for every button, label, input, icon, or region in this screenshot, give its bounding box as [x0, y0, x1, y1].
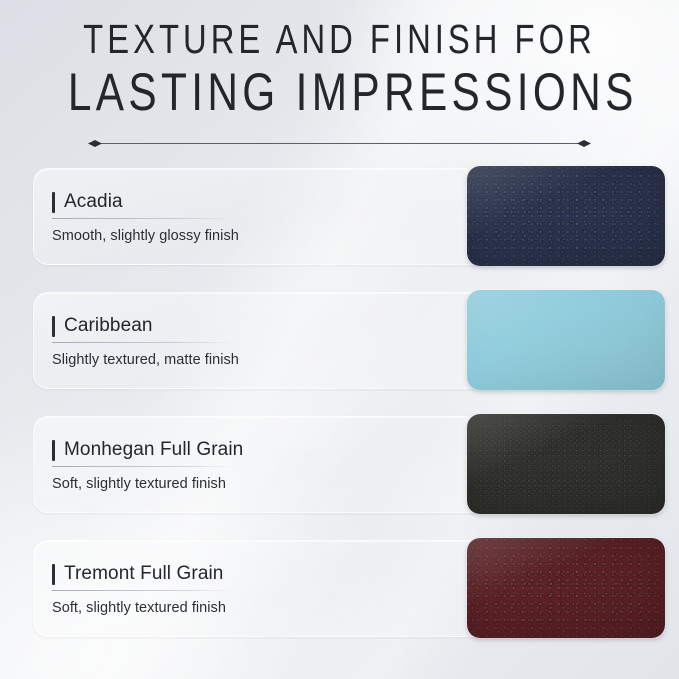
swatch-description: Soft, slightly textured finish	[52, 600, 452, 616]
name-row: Caribbean	[52, 313, 452, 339]
title-line-2: LASTING IMPRESSIONS	[68, 65, 611, 120]
name-row: Tremont Full Grain	[52, 561, 452, 587]
color-swatch-acadia[interactable]	[467, 166, 665, 266]
swatch-shading	[467, 414, 665, 514]
color-swatch-monhegan-full-grain[interactable]	[467, 414, 665, 514]
swatch-shading	[467, 538, 665, 638]
divider-icon	[88, 138, 591, 149]
header-divider-ornament	[88, 136, 591, 147]
texture-finish-poster: TEXTURE AND FINISH FOR LASTING IMPRESSIO…	[0, 0, 679, 679]
swatch-description: Soft, slightly textured finish	[52, 476, 452, 492]
name-underline	[52, 342, 228, 343]
name-underline	[52, 466, 228, 467]
accent-bar-icon	[52, 192, 55, 213]
color-swatch-caribbean[interactable]	[467, 290, 665, 390]
card-text-block: Tremont Full Grain Soft, slightly textur…	[52, 561, 452, 616]
swatch-shading	[467, 166, 665, 266]
poster-header: TEXTURE AND FINISH FOR LASTING IMPRESSIO…	[0, 18, 679, 120]
name-underline	[52, 590, 228, 591]
swatch-description: Slightly textured, matte finish	[52, 352, 452, 368]
swatch-name: Acadia	[64, 191, 123, 213]
title-line-1: TEXTURE AND FINISH FOR	[68, 18, 611, 61]
name-underline	[52, 218, 228, 219]
accent-bar-icon	[52, 440, 55, 461]
swatch-shading	[467, 290, 665, 390]
accent-bar-icon	[52, 316, 55, 337]
swatch-name: Caribbean	[64, 315, 153, 337]
swatch-name: Tremont Full Grain	[64, 563, 223, 585]
name-row: Monhegan Full Grain	[52, 437, 452, 463]
card-text-block: Monhegan Full Grain Soft, slightly textu…	[52, 437, 452, 492]
color-swatch-tremont-full-grain[interactable]	[467, 538, 665, 638]
card-text-block: Caribbean Slightly textured, matte finis…	[52, 313, 452, 368]
name-row: Acadia	[52, 189, 452, 215]
swatch-name: Monhegan Full Grain	[64, 439, 243, 461]
swatch-description: Smooth, slightly glossy finish	[52, 228, 452, 244]
accent-bar-icon	[52, 564, 55, 585]
card-text-block: Acadia Smooth, slightly glossy finish	[52, 189, 452, 244]
